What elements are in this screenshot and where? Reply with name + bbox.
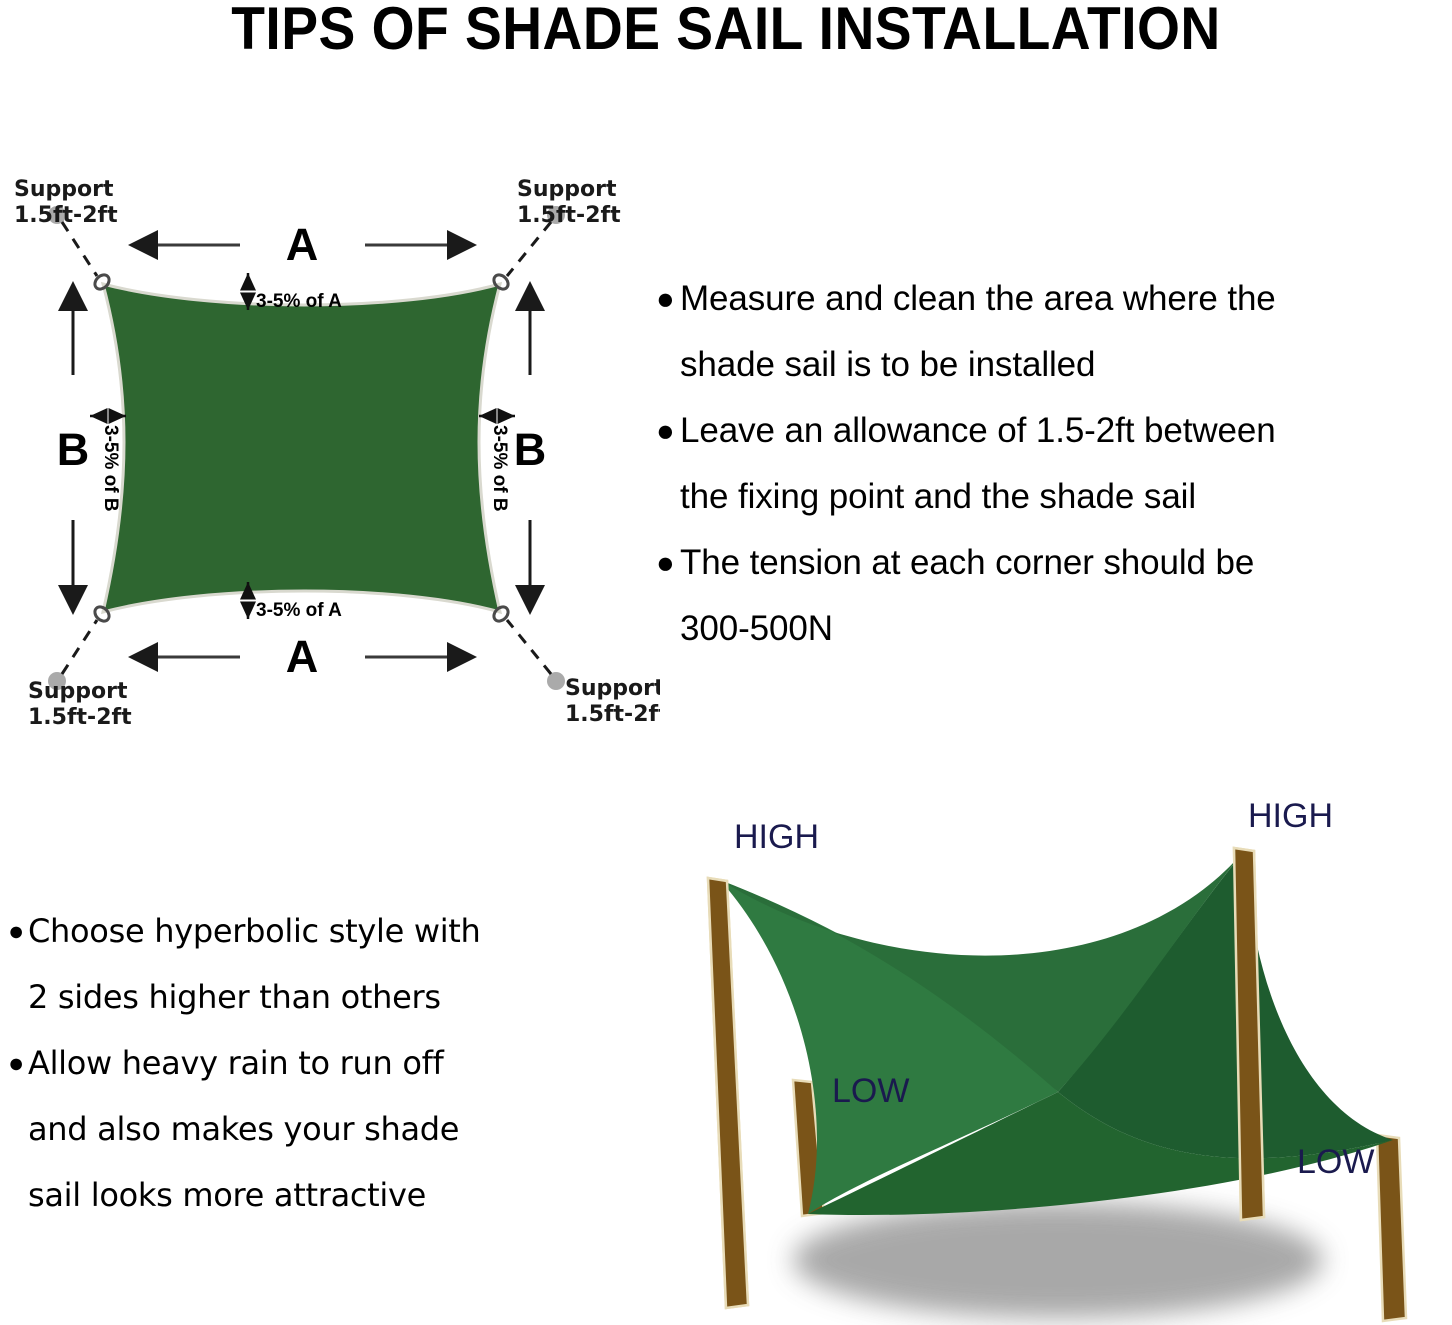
list-item: 300-500N: [650, 598, 1452, 660]
installation-tips-list: ● Measure and clean the area where the s…: [650, 268, 1452, 664]
post-far-right: [1377, 1135, 1406, 1321]
support-label-bottom-left-line2: 1.5ft-2ft: [28, 705, 132, 730]
post-label-low-right: LOW: [1297, 1143, 1374, 1181]
tip-line: 300-500N: [680, 598, 1452, 660]
curve-label-bottom: 3-5% of A: [256, 600, 342, 621]
dimension-label-a-top: A: [286, 219, 319, 270]
page-title: TIPS OF SHADE SAIL INSTALLATION: [58, 0, 1394, 62]
shade-sail-shape: [103, 284, 500, 612]
tip-line: Choose hyperbolic style with: [28, 900, 640, 962]
post-far-left-front: [708, 878, 748, 1308]
list-item: ● The tension at each corner should be: [650, 532, 1452, 594]
support-label-top-right-line1: Support: [517, 177, 617, 202]
tip-line: shade sail is to be installed: [680, 334, 1452, 396]
tip-line: Allow heavy rain to run off: [28, 1032, 640, 1094]
support-label-top-left-line1: Support: [14, 177, 114, 202]
sail-fabric: [103, 284, 500, 612]
list-item: ● Allow heavy rain to run off: [0, 1032, 640, 1094]
tip-line: Leave an allowance of 1.5-2ft between: [680, 400, 1452, 462]
post-label-high-left: HIGH: [734, 818, 819, 856]
dashed-line-top-right: [507, 222, 551, 276]
style-tips-list: ● Choose hyperbolic style with 2 sides h…: [0, 900, 640, 1230]
dashed-line-top-left: [62, 222, 97, 276]
bullet-icon: ●: [0, 900, 28, 962]
list-item: ● Choose hyperbolic style with: [0, 900, 640, 962]
list-item: the fixing point and the shade sail: [650, 466, 1452, 528]
bullet-icon: ●: [0, 1032, 28, 1094]
support-label-bottom-right-line1: Support: [565, 676, 660, 701]
sail-measurement-diagram: A A B B 3-5% of A 3-5% of A: [0, 160, 660, 740]
hyperbolic-sail-illustration: HIGH HIGH LOW LOW: [660, 780, 1452, 1325]
bullet-icon: ●: [650, 268, 680, 330]
tip-line: sail looks more attractive: [28, 1164, 640, 1226]
dashed-line-bottom-left: [62, 620, 97, 674]
post-label-high-right: HIGH: [1248, 797, 1333, 835]
dashed-line-bottom-right: [507, 620, 551, 674]
tip-line: 2 sides higher than others: [28, 966, 640, 1028]
list-item: ● Measure and clean the area where the: [650, 268, 1452, 330]
list-item: ● Leave an allowance of 1.5-2ft between: [650, 400, 1452, 462]
dimension-label-a-bottom: A: [286, 631, 319, 682]
list-item: shade sail is to be installed: [650, 334, 1452, 396]
support-label-bottom-left-line1: Support: [28, 679, 128, 704]
dimension-label-b-right: B: [514, 424, 547, 475]
bullet-icon: ●: [650, 400, 680, 462]
tip-line: the fixing point and the shade sail: [680, 466, 1452, 528]
bullet-icon: ●: [650, 532, 680, 594]
list-item: 2 sides higher than others: [0, 966, 640, 1028]
tip-line: The tension at each corner should be: [680, 532, 1452, 594]
curve-label-left: 3-5% of B: [100, 425, 121, 512]
support-label-top-left-line2: 1.5ft-2ft: [14, 203, 118, 228]
curve-label-right: 3-5% of B: [489, 425, 510, 512]
list-item: sail looks more attractive: [0, 1164, 640, 1226]
tip-line: and also makes your shade: [28, 1098, 640, 1160]
support-label-top-right-line2: 1.5ft-2ft: [517, 203, 621, 228]
list-item: and also makes your shade: [0, 1098, 640, 1160]
curve-label-top: 3-5% of A: [256, 291, 342, 312]
dimension-label-b-left: B: [57, 424, 90, 475]
post-label-low-left: LOW: [832, 1072, 909, 1110]
support-label-bottom-right-line2: 1.5ft-2ft: [565, 702, 660, 727]
tip-line: Measure and clean the area where the: [680, 268, 1452, 330]
